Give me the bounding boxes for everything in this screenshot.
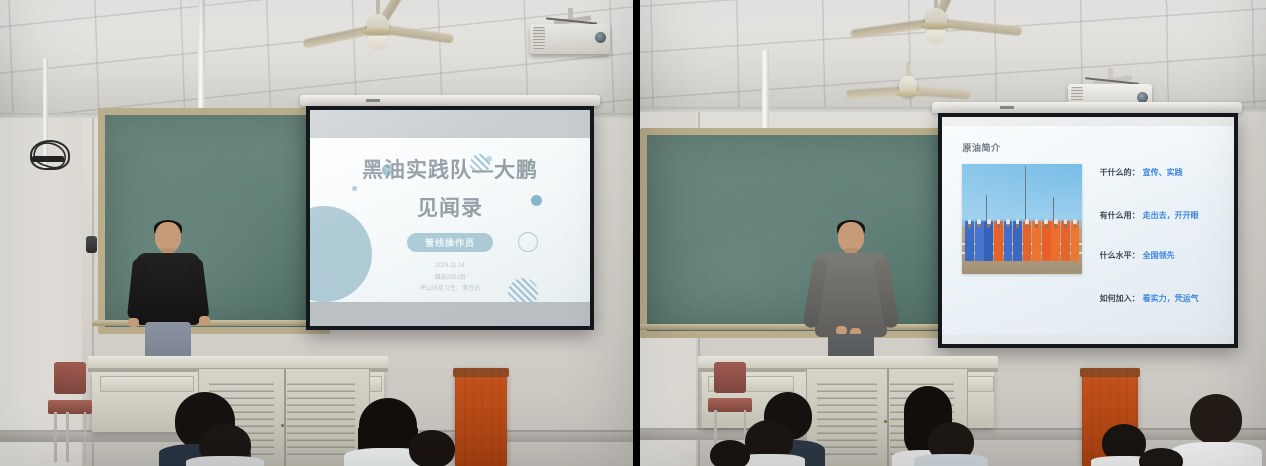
screen-roller-housing (932, 102, 1242, 113)
ceiling-fan-icon (348, 0, 408, 60)
screen-roller-housing (300, 95, 600, 106)
desk-drawer (100, 376, 194, 392)
slide-row-value: 看实力，凭运气 (1143, 294, 1199, 303)
photo-panel-left: 黑油实践队—大鹏 见闻录 ·· ·· 管线操作员 2024.11.14 储运22… (0, 0, 633, 466)
audience-member (1134, 448, 1188, 466)
panel-divider (633, 0, 640, 466)
chalkboard-rail (640, 324, 952, 330)
slide-row-value: 走出去，开开眼 (1143, 211, 1199, 220)
slide-title-line-2: 见闻录 (310, 197, 590, 221)
projection-screen-right: 原油简介 (938, 113, 1238, 348)
slide-text-rows: 干什么的：宣传、实践 有什么用：走出去，开开眼 什么水平：全国领先 如何加入：看… (1100, 164, 1223, 319)
slide-content: 原油简介 (942, 126, 1234, 335)
slide-row: 什么水平：全国领先 (1100, 250, 1175, 261)
slide-photo-crew (962, 164, 1082, 275)
slide-row-value: 全国领先 (1143, 251, 1175, 260)
decor-dot (352, 186, 357, 191)
slide-row-label: 有什么用： (1100, 211, 1140, 220)
slide-row: 如何加入：看实力，凭运气 (1100, 293, 1199, 304)
slide-title-line-1: 黑油实践队—大鹏 (310, 159, 590, 183)
slide-row-label: 什么水平： (1100, 251, 1140, 260)
decor-dots-right: ·· (495, 237, 506, 244)
slide-heading: 原油简介 (962, 141, 1000, 154)
wall-pole-hook (30, 140, 66, 166)
audience-member (922, 422, 980, 466)
audience-member (404, 430, 460, 466)
slide-sub-date: 2024.11.14 (310, 261, 590, 272)
chair (48, 362, 92, 462)
slide-row-value: 宣传、实践 (1143, 168, 1183, 177)
wooden-podium (455, 368, 507, 466)
audience-member (706, 440, 754, 466)
chalkboard (640, 128, 960, 338)
slide-title: 黑油实践队—大鹏 见闻录 ·· ·· 管线操作员 2024.11.14 储运22… (310, 138, 590, 302)
ceiling-fan-icon (906, 0, 966, 54)
crew-row (965, 215, 1080, 261)
slide-badge: 管线操作员 (407, 233, 493, 252)
ceiling-projector-icon (530, 8, 610, 58)
decor-ring-circle (518, 232, 538, 252)
projection-screen-left: 黑油实践队—大鹏 见闻录 ·· ·· 管线操作员 2024.11.14 储运22… (306, 106, 594, 330)
classroom-left: 黑油实践队—大鹏 见闻录 ·· ·· 管线操作员 2024.11.14 储运22… (0, 0, 633, 466)
slide-sub-class: 储运2201班 (310, 273, 590, 284)
ceiling-fan-icon (884, 62, 932, 110)
wall-speaker-icon (86, 236, 97, 253)
slide-row: 有什么用：走出去，开开眼 (1100, 210, 1199, 221)
slide-subtext: 2024.11.14 储运2201班 坪山站见习生：李万达 (310, 261, 590, 295)
audience-member (194, 424, 256, 466)
slide-sub-author: 坪山站见习生：李万达 (310, 284, 590, 295)
audience-member (1180, 394, 1252, 466)
photo-panel-right: 原油简介 (640, 0, 1266, 466)
slide-row-label: 干什么的： (1100, 168, 1140, 177)
decor-dots-left: ·· (394, 237, 405, 244)
slide-row-label: 如何加入： (1100, 294, 1140, 303)
slide-row: 干什么的：宣传、实践 (1100, 167, 1183, 178)
screenshot-root: 黑油实践队—大鹏 见闻录 ·· ·· 管线操作员 2024.11.14 储运22… (0, 0, 1266, 466)
teacher-desk-top (88, 356, 388, 368)
classroom-right: 原油简介 (640, 0, 1266, 466)
